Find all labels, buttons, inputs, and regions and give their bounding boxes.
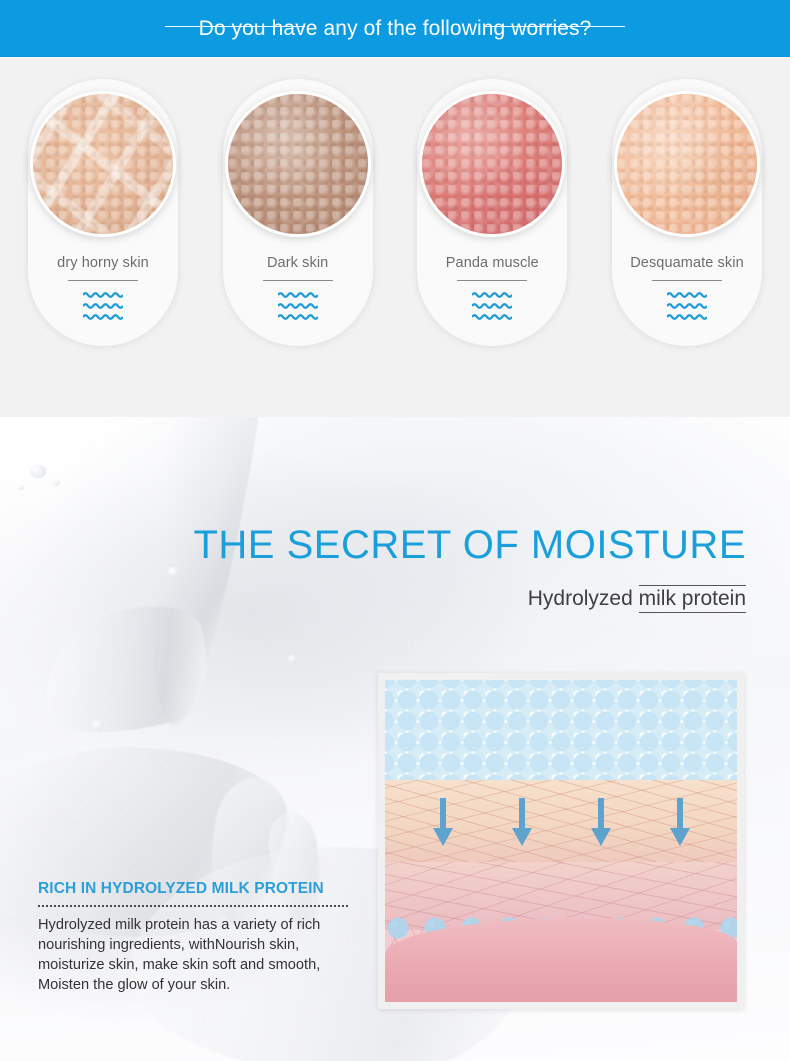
moisture-droplets-top-layer — [385, 680, 737, 784]
wave-lines-icon — [667, 291, 707, 320]
worry-card[interactable]: Desquamate skin — [612, 79, 762, 346]
down-arrow-icon — [509, 798, 535, 848]
worry-card-label: Dark skin — [267, 255, 328, 271]
down-arrow-icon — [667, 798, 693, 848]
header-inner: Do you have any of the following worries… — [187, 18, 604, 39]
wave-lines-icon — [278, 291, 318, 320]
card-divider — [457, 280, 527, 281]
absorption-arrow-row — [385, 798, 737, 848]
skin-photo-panda-muscle — [419, 91, 565, 237]
copy-block: RICH IN HYDROLYZED MILK PROTEIN Hydrolyz… — [38, 880, 360, 995]
card-divider — [68, 280, 138, 281]
milk-crown-shape — [28, 593, 222, 751]
milk-droplet — [92, 720, 104, 731]
moisture-headline-block: THE SECRET OF MOISTURE Hydrolyzed milk p… — [193, 525, 746, 611]
skin-photo-dark-skin — [225, 91, 371, 237]
worry-card-label: dry horny skin — [57, 255, 149, 271]
header-rule-right-decoration — [485, 26, 625, 27]
deep-dermis-layer — [385, 918, 737, 1002]
skin-cross-section-figure — [378, 673, 744, 1009]
copy-heading: RICH IN HYDROLYZED MILK PROTEIN — [38, 880, 360, 898]
copy-body: Hydrolyzed milk protein has a variety of… — [38, 915, 360, 995]
skin-photo-dry-horny — [30, 91, 176, 237]
moisture-headline: THE SECRET OF MOISTURE — [193, 525, 746, 565]
milk-droplet — [52, 479, 60, 486]
milk-droplet — [168, 567, 179, 577]
header-banner: Do you have any of the following worries… — [0, 0, 790, 57]
header-rule-left-decoration — [165, 26, 305, 27]
milk-droplet — [30, 465, 46, 478]
moisture-subhead-block: Hydrolyzed milk protein — [193, 587, 746, 611]
moisture-subhead-plain: Hydrolyzed — [528, 587, 639, 610]
wave-lines-icon — [83, 291, 123, 320]
worry-card[interactable]: dry horny skin — [28, 79, 178, 346]
moisture-subhead: Hydrolyzed milk protein — [528, 585, 746, 613]
skin-photo-desquamate-skin — [614, 91, 760, 237]
down-arrow-icon — [430, 798, 456, 848]
header-title: Do you have any of the following worries… — [199, 18, 592, 39]
worry-card[interactable]: Dark skin — [223, 79, 373, 346]
copy-dotted-divider — [38, 905, 348, 907]
skin-cross-section-inner — [385, 680, 737, 1002]
worry-card-label: Desquamate skin — [630, 255, 744, 271]
worry-card[interactable]: Panda muscle — [417, 79, 567, 346]
worry-cards-row: dry horny skin Dark skin — [0, 79, 790, 346]
product-detail-page: Do you have any of the following worries… — [0, 0, 790, 1061]
worry-cards-section: dry horny skin Dark skin — [0, 57, 790, 417]
card-divider — [652, 280, 722, 281]
moisture-subhead-underlined: milk protein — [639, 585, 746, 613]
milk-droplet — [18, 485, 24, 490]
down-arrow-icon — [588, 798, 614, 848]
wave-lines-icon — [472, 291, 512, 320]
worry-card-label: Panda muscle — [446, 255, 539, 271]
card-divider — [263, 280, 333, 281]
milk-droplet — [288, 655, 297, 663]
